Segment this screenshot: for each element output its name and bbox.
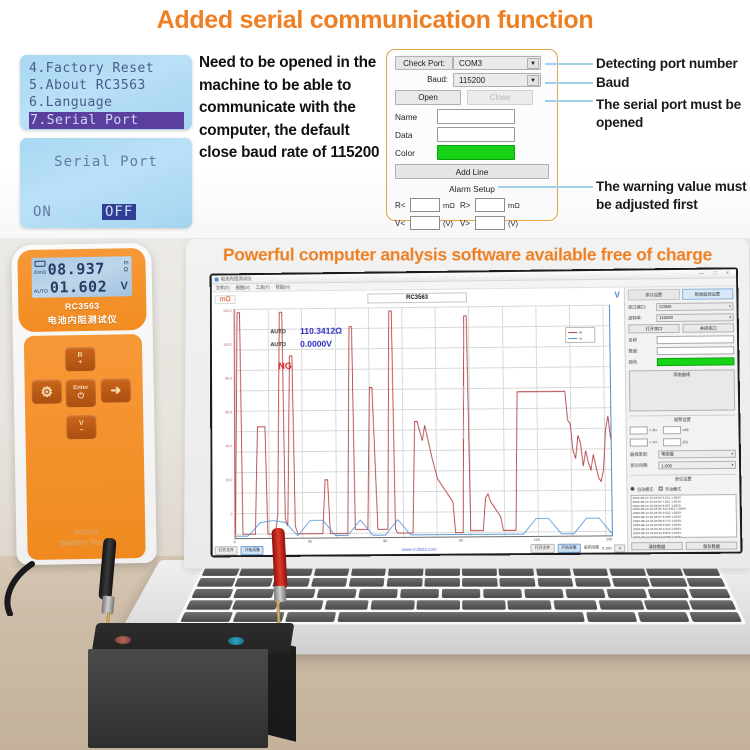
meter-key-r-plus[interactable]: R + — [65, 347, 95, 372]
chart-pane: mΩ RC3563 V 120.0 100.0 80.0 60.0 40.0 2… — [212, 288, 628, 556]
watermark: www.rc3563.com — [402, 547, 437, 552]
side-port-value: COM3 — [659, 304, 671, 309]
unit-badge: mΩ — [215, 295, 236, 304]
side-panel-bottom-buttons: 清除数据 保存数据 — [631, 541, 737, 550]
menu-item-help[interactable]: 帮助(H) — [276, 284, 290, 290]
probe-cable — [2, 556, 72, 616]
keyboard-key — [313, 567, 349, 576]
lcd-menu-item-1: 5.About RC3563 — [29, 77, 185, 94]
side-data-input[interactable] — [657, 346, 735, 355]
check-port-value: COM3 — [459, 59, 482, 68]
data-label: Data — [395, 130, 437, 140]
side-data-label: 数据 — [629, 348, 655, 354]
check-port-select[interactable]: COM3 ▼ — [453, 56, 541, 70]
keyboard-key — [351, 567, 387, 576]
side-alarm-v-unit: (V) — [683, 440, 695, 444]
laptop-keyboard — [176, 565, 747, 624]
side-curve-type-select[interactable]: 电阻值 ▼ — [658, 450, 736, 459]
clear-data-button[interactable]: 清除数据 — [631, 541, 683, 550]
side-port-label: 串口端口: — [628, 304, 654, 310]
meter-top-housing: 20mΩ AUTO 08.937 mΩ 01.602 V RC3563 电池内阻… — [17, 248, 146, 332]
alarm-r-gt-label: R> — [460, 201, 475, 210]
lcd-menu-item-0: 4.Factory Reset — [29, 60, 185, 77]
side-name-label: 名称 — [628, 337, 654, 343]
annotation-detecting-port: Detecting port number — [596, 55, 748, 73]
x-tick: 150 — [606, 537, 612, 541]
alarm-r-lt-input[interactable] — [410, 198, 440, 212]
legend-swatch-r-icon — [568, 332, 577, 334]
keyboard-key — [416, 600, 459, 610]
black-probe-grip — [98, 538, 116, 601]
name-input[interactable] — [437, 109, 515, 124]
meter-range-label: 20mΩ — [34, 270, 46, 275]
callout-line-1 — [545, 63, 593, 65]
keyboard-key — [500, 578, 536, 587]
side-interval-value: 1.000 — [661, 463, 672, 468]
keyboard-key — [536, 567, 572, 576]
keyboard-key — [682, 567, 720, 576]
alarm-v-gt-label: V> — [460, 219, 475, 228]
meter-keypad-housing: R + ⚙ Enter ⏻ ➜ V − RC3563 Battery Teste… — [24, 334, 146, 560]
color-swatch[interactable] — [437, 145, 515, 160]
meter-key-settings[interactable]: ⚙ — [32, 379, 62, 404]
y-tick: 0 — [231, 512, 233, 516]
callout-line-4 — [498, 186, 593, 188]
lcd-menu-item-2: 6.Language — [29, 94, 185, 111]
legend-swatch-v-icon — [568, 338, 577, 340]
side-data-row: 数据 — [629, 345, 735, 355]
readout-value-2: 0.0000V — [300, 339, 332, 349]
side-baud-value: 115200 — [659, 315, 673, 320]
chevron-down-icon: ▼ — [731, 452, 734, 456]
keyboard-key — [688, 589, 731, 598]
battery-icon — [34, 261, 45, 267]
tab-serial-settings[interactable]: 串口设置 — [628, 289, 680, 301]
battery-under-test — [88, 623, 293, 748]
check-port-row: Check Port: COM3 ▼ — [395, 56, 549, 70]
keyboard-key — [689, 612, 742, 622]
laptop-lid: Powerful computer analysis software avai… — [184, 239, 750, 569]
name-label: Name — [395, 112, 437, 122]
meter-resistance-value: 08.937 — [47, 260, 104, 279]
status-badge-ng: NG — [278, 361, 291, 371]
keyboard-key — [324, 600, 369, 610]
add-line-button[interactable]: Add Line — [395, 164, 549, 179]
side-color-row: 颜色 — [629, 356, 735, 366]
keyboard-key — [647, 589, 689, 598]
side-close-button[interactable]: 关闭串口 — [682, 324, 733, 333]
side-open-close-row: 打开串口 关闭串口 — [628, 323, 734, 333]
keyboard-key — [499, 567, 534, 576]
side-color-swatch[interactable] — [657, 357, 735, 366]
keyboard-key — [180, 612, 233, 622]
meter-key-enter[interactable]: Enter ⏻ — [66, 379, 96, 408]
y-tick: 60.0 — [225, 410, 232, 414]
app-body: mΩ RC3563 V 120.0 100.0 80.0 60.0 40.0 2… — [212, 286, 741, 555]
meter-brand-line-1: RC3563 — [27, 528, 145, 537]
name-row: Name — [395, 109, 549, 124]
meter-key-r-bottom: + — [78, 359, 82, 366]
arrow-right-icon: ➜ — [110, 382, 121, 398]
side-panel-tabs: 串口设置 数据曲线设置 — [628, 288, 734, 300]
side-open-button[interactable]: 打开串口 — [628, 324, 679, 333]
sample-interval-value[interactable]: 0.100 — [602, 546, 612, 550]
rc3563-meter-device: 20mΩ AUTO 08.937 mΩ 01.602 V RC3563 电池内阻… — [11, 243, 157, 565]
top-info-section: Added serial communication function 4.Fa… — [0, 0, 750, 238]
open-file-button-2[interactable]: 打开文件 — [531, 544, 554, 553]
keyboard-key — [537, 578, 574, 587]
keyboard-key — [370, 600, 414, 610]
side-alarm-r-label: < R< — [649, 429, 661, 433]
side-interval-label: 显示间隔: — [630, 463, 656, 469]
annotation-baud: Baud — [596, 74, 748, 92]
window-controls[interactable]: — □ × — [699, 270, 733, 276]
meter-resistance-unit: mΩ — [123, 260, 128, 274]
keyboard-key — [400, 589, 439, 598]
keyboard-key — [196, 578, 235, 587]
chevron-down-icon: ▼ — [527, 58, 539, 69]
check-port-button[interactable]: Check Port: — [395, 56, 453, 70]
meter-key-v-bottom: − — [79, 427, 83, 434]
device-lcd-menu-screen: 4.Factory Reset 5.About RC3563 6.Languag… — [20, 55, 192, 130]
keyboard-key — [348, 578, 385, 587]
side-mode-radios: 自动模式 手动模式 — [630, 486, 736, 493]
keyboard-key — [424, 578, 459, 587]
keyboard-key — [574, 578, 611, 587]
meter-lcd-display: 20mΩ AUTO 08.937 mΩ 01.602 V — [31, 256, 132, 298]
chevron-down-icon: ▼ — [527, 75, 539, 86]
keyboard-key — [462, 600, 505, 610]
annotation-warning-value: The warning value must be adjusted first — [596, 178, 748, 214]
side-alarm-title: 报警设置 — [629, 414, 735, 423]
lcd-menu-item-3-selected: 7.Serial Port — [29, 112, 184, 129]
side-unit-section-label: 单位设置 — [630, 474, 736, 483]
y-axis-tick-labels: 120.0 100.0 80.0 60.0 40.0 20.0 0 — [212, 309, 234, 539]
side-alarm-v-lt-input[interactable] — [630, 438, 648, 446]
app-icon — [215, 277, 219, 281]
radio-auto-label: 自动模式 — [637, 486, 653, 491]
log-line: 2023-08-14 10:04:12 8.998 1.602V — [633, 535, 735, 537]
keyboard-key — [186, 600, 233, 610]
y-tick: 100.0 — [223, 343, 231, 347]
lcd-option-on: ON — [33, 204, 52, 220]
keyboard-key — [358, 589, 398, 598]
chart-plot-area[interactable]: AUTO 110.3412Ω AUTO 0.0000V NG R — [234, 305, 613, 539]
save-data-button[interactable]: 保存数据 — [686, 541, 738, 550]
x-tick: 90 — [459, 538, 463, 542]
side-interval-select[interactable]: 1.000 ▼ — [658, 461, 736, 470]
open-file-button[interactable]: 打开文件 — [215, 546, 238, 555]
baud-row: Baud: 115200 ▼ — [395, 73, 549, 87]
meter-key-right[interactable]: ➜ — [101, 378, 131, 403]
side-baud-label: 波特率: — [628, 315, 654, 321]
app-window-title: 电池内阻测试仪 — [221, 276, 252, 282]
menu-item-tools[interactable]: 工具(T) — [256, 284, 270, 290]
intro-paragraph: Need to be opened in the machine to be a… — [199, 52, 384, 165]
side-curve-type-value: 电阻值 — [661, 452, 674, 458]
keyboard-key — [285, 612, 337, 622]
battery-front-face — [88, 649, 268, 748]
keyboard-key — [572, 567, 608, 576]
keyboard-key — [687, 578, 726, 587]
keyboard-key — [689, 600, 736, 610]
alarm-v-lt-label: V< — [395, 219, 410, 228]
side-alarm-r-unit: mΩ — [683, 428, 695, 432]
banner-text: Powerful computer analysis software avai… — [186, 245, 749, 266]
chart-title-field[interactable]: RC3563 — [367, 292, 467, 303]
data-row: Data — [395, 127, 549, 142]
lcd-sub-title: Serial Port — [20, 154, 192, 170]
open-close-row: Open Close — [395, 90, 549, 105]
radio-manual-label: 手动模式 — [665, 486, 681, 491]
keyboard-key — [386, 578, 422, 587]
power-icon: ⏻ — [78, 391, 85, 401]
chart-legend: R V — [565, 327, 595, 343]
sample-interval-label: 采样间隔 — [584, 546, 599, 551]
meter-brand-line-2: Battery Tester — [27, 537, 145, 548]
keyboard-key — [612, 578, 650, 587]
sample-interval-unit: S — [615, 544, 626, 552]
lcd-option-off-selected: OFF — [102, 204, 136, 220]
alarm-v-gt-input[interactable] — [475, 216, 505, 230]
chart-right-toolbar: 打开文件 开始采集 采样间隔 0.100 S — [531, 543, 625, 553]
series-resistance-line — [235, 309, 612, 535]
gear-icon: ⚙ — [40, 383, 53, 400]
radio-on-icon — [630, 487, 634, 491]
serial-settings-dialog: Check Port: COM3 ▼ Baud: 115200 ▼ Open C… — [386, 49, 558, 221]
keyboard-row — [180, 612, 742, 622]
x-tick: 120 — [534, 538, 540, 542]
device-lcd-serial-port-screen: Serial Port ON OFF — [20, 138, 192, 228]
keyboard-key — [202, 567, 240, 576]
radio-auto-mode[interactable]: 自动模式 — [630, 486, 653, 492]
alarm-v-lt-unit: (V) — [440, 219, 460, 228]
baud-value: 115200 — [459, 76, 485, 85]
keyboard-key — [644, 600, 690, 610]
start-capture-button[interactable]: 开始采集 — [241, 546, 264, 555]
keyboard-key — [606, 589, 647, 598]
product-photo-section: Powerful computer analysis software avai… — [0, 238, 750, 750]
side-add-line-button[interactable]: 添加曲线 — [629, 369, 735, 411]
readout-mode-2: AUTO — [270, 342, 286, 348]
keyboard-key — [598, 600, 644, 610]
keyboard-key — [442, 589, 481, 598]
alarm-r-lt-label: R< — [395, 201, 410, 210]
side-alarm-v-label: < V< — [649, 440, 661, 444]
checkbox-icon — [658, 486, 662, 490]
keyboard-key — [646, 567, 684, 576]
side-baud-select[interactable]: 115200 ▼ — [656, 313, 734, 322]
battery-terminal-positive — [228, 637, 244, 645]
chart-left-toolbar: 打开文件 开始采集 — [215, 546, 264, 555]
laptop-screen: 电池内阻测试仪 — □ × 文件(F) 视图(V) 工具(T) 帮助(H) mΩ… — [210, 267, 743, 557]
menu-item-file[interactable]: 文件(F) — [216, 285, 230, 291]
chevron-down-icon: ▼ — [728, 304, 731, 308]
keyboard-key — [508, 600, 552, 610]
keyboard-key — [553, 600, 598, 610]
legend-label-v: V — [579, 336, 582, 341]
x-tick: 30 — [308, 540, 312, 544]
side-port-select[interactable]: COM3 ▼ — [656, 302, 734, 311]
keyboard-key — [316, 589, 357, 598]
measurement-log-list[interactable]: 2023-08-14 10:04:02 5.231 1.602V2023-08-… — [631, 494, 738, 538]
baud-label: Baud: — [395, 73, 453, 87]
meter-voltage-unit: V — [121, 280, 129, 292]
keyboard-key — [462, 578, 497, 587]
side-alarm-r-gt-input[interactable] — [663, 426, 681, 434]
voltage-axis-label: V — [614, 291, 619, 300]
side-alarm-v-gt-input[interactable] — [663, 438, 681, 446]
meter-key-v-minus[interactable]: V − — [66, 415, 96, 440]
alarm-r-gt-input[interactable] — [475, 198, 505, 212]
keyboard-key — [388, 567, 423, 576]
keyboard-key — [565, 589, 606, 598]
red-probe-grip — [271, 528, 287, 591]
side-port-row: 串口端口: COM3 ▼ — [628, 301, 734, 311]
y-tick: 80.0 — [225, 377, 232, 381]
alarm-v-gt-unit: (V) — [505, 219, 525, 228]
tab-curve-settings[interactable]: 数据曲线设置 — [681, 288, 733, 300]
callout-line-2 — [545, 82, 593, 84]
side-name-row: 名称 — [628, 334, 734, 344]
alarm-voltage-row: V< (V) V> (V) — [395, 216, 549, 230]
legend-label-r: R — [579, 330, 582, 335]
keyboard-key — [524, 589, 564, 598]
side-curve-type-row: 曲线类型: 电阻值 ▼ — [630, 449, 736, 459]
color-label: Color — [395, 148, 437, 158]
meter-voltage-value: 01.602 — [50, 278, 107, 297]
keyboard-key — [191, 589, 234, 598]
app-side-panel: 串口设置 数据曲线设置 串口端口: COM3 ▼ 波特率: — [624, 286, 741, 552]
callout-line-3 — [545, 100, 593, 102]
readout-mode-1: AUTO — [270, 329, 286, 335]
chart-svg — [235, 305, 612, 538]
alarm-r-lt-unit: mΩ — [440, 201, 460, 210]
keyboard-key — [310, 578, 347, 587]
battery-terminal-negative — [115, 636, 131, 644]
readout-value-1: 110.3412Ω — [300, 326, 342, 336]
menu-item-view[interactable]: 视图(V) — [236, 285, 250, 291]
alarm-v-lt-input[interactable] — [410, 216, 440, 230]
side-alarm-r-lt-input[interactable] — [630, 427, 648, 435]
y-tick: 20.0 — [226, 478, 233, 482]
keyboard-spacebar — [337, 612, 585, 622]
checkbox-manual-mode[interactable]: 手动模式 — [658, 486, 681, 492]
chevron-down-icon: ▼ — [729, 315, 732, 319]
color-row: Color — [395, 145, 549, 160]
analysis-software-window: 电池内阻测试仪 — □ × 文件(F) 视图(V) 工具(T) 帮助(H) mΩ… — [212, 269, 741, 555]
meter-model-cn-label: 电池内阻测试仪 — [18, 312, 146, 327]
baud-select[interactable]: 115200 ▼ — [453, 73, 541, 87]
page-title: Added serial communication function — [0, 6, 750, 35]
side-name-input[interactable] — [657, 335, 735, 344]
chevron-down-icon: ▼ — [731, 463, 734, 467]
side-interval-row: 显示间隔: 1.000 ▼ — [630, 461, 736, 471]
side-alarm-row-1: < R< mΩ — [630, 426, 736, 435]
keyboard-key — [637, 612, 690, 622]
side-baud-row: 波特率: 115200 ▼ — [628, 312, 734, 322]
close-button[interactable]: Close — [467, 90, 533, 105]
legend-entry-v: V — [568, 335, 592, 341]
side-color-label: 颜色 — [629, 359, 655, 365]
y-tick: 120.0 — [223, 309, 231, 313]
keyboard-key — [462, 567, 497, 576]
alarm-r-gt-unit: mΩ — [505, 201, 525, 210]
keyboard-key — [649, 578, 687, 587]
keyboard-key — [483, 589, 522, 598]
side-curve-type-label: 曲线类型: — [630, 452, 656, 458]
side-alarm-row-2: < V< (V) — [630, 437, 736, 446]
x-tick: 60 — [383, 539, 387, 543]
annotation-serial-must-open: The serial port must be opened — [596, 96, 746, 132]
start-capture-button-2[interactable]: 开始采集 — [557, 544, 580, 553]
x-tick: 0 — [234, 540, 236, 544]
battery-side-face — [266, 639, 296, 741]
keyboard-key — [586, 612, 638, 622]
y-tick: 40.0 — [226, 444, 233, 448]
keyboard-key — [609, 567, 646, 576]
meter-auto-label: AUTO — [34, 289, 48, 295]
alarm-resistance-row: R< mΩ R> mΩ — [395, 198, 549, 212]
meter-model-label: RC3563 — [18, 300, 146, 312]
keyboard-key — [425, 567, 460, 576]
data-input[interactable] — [437, 127, 515, 142]
open-button[interactable]: Open — [395, 90, 461, 105]
